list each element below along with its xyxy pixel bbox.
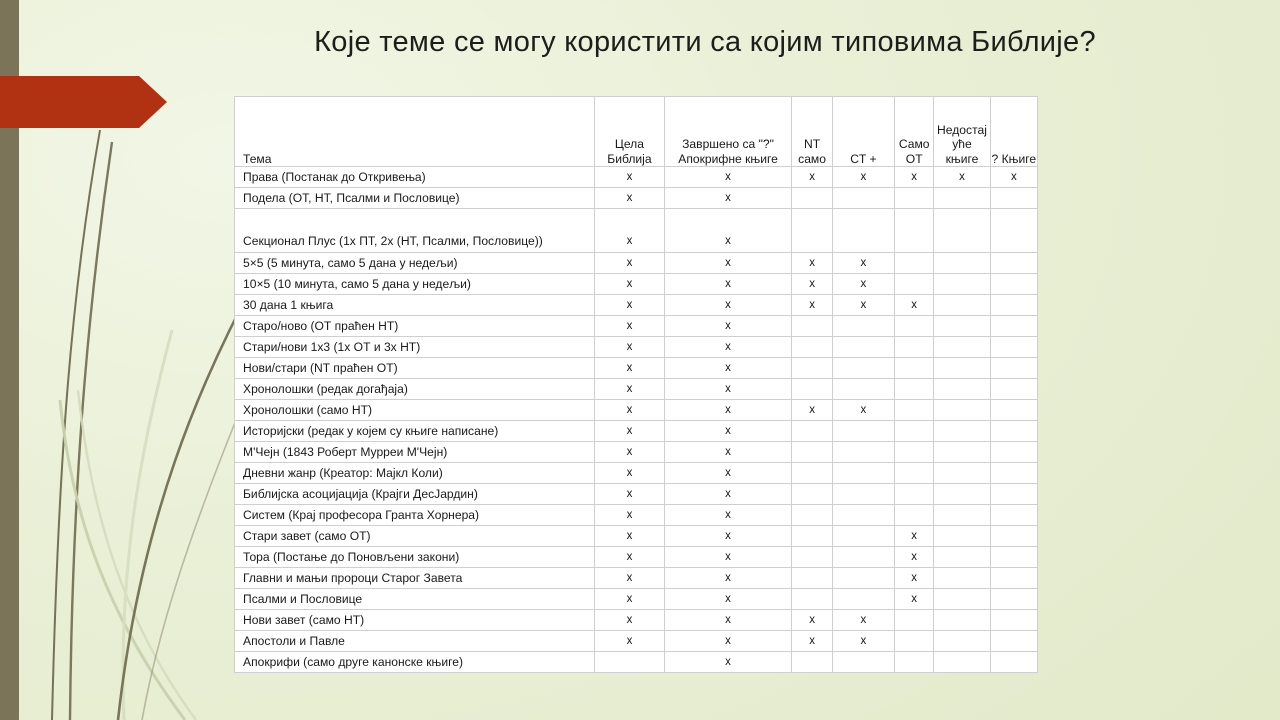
cell-only-ot [895,337,934,358]
cell-theme: 10×5 (10 минута, само 5 дана у недељи) [235,274,595,295]
cell-only-ot [895,505,934,526]
table-row: Историјски (редак у којем су књиге напис… [235,421,1038,442]
cell-only-ot: x [895,568,934,589]
cell-question-books [990,316,1037,337]
cell-ot-plus: x [832,400,894,421]
cell-whole-bible: x [595,610,664,631]
cell-nt-only: x [792,610,832,631]
cell-theme: Историјски (редак у којем су књиге напис… [235,421,595,442]
matrix-table: Тема Цела Библија Завршено са "?" Апокри… [234,96,1038,673]
table-row: Стари завет (само ОТ)xxx [235,526,1038,547]
cell-theme: Стари/нови 1х3 (1х ОТ и 3х НТ) [235,337,595,358]
cell-only-ot: x [895,547,934,568]
cell-whole-bible: x [595,484,664,505]
cell-ot-plus [832,316,894,337]
cell-only-ot [895,610,934,631]
cell-apocrypha: x [664,568,792,589]
cell-nt-only [792,463,832,484]
cell-theme: Права (Постанак до Откривења) [235,167,595,188]
cell-theme: Нови/стари (NT праћен ОТ) [235,358,595,379]
cell-ot-plus [832,547,894,568]
cell-whole-bible: x [595,379,664,400]
cell-only-ot [895,631,934,652]
cell-nt-only: x [792,274,832,295]
cell-missing-books [934,379,990,400]
table-body: Права (Постанак до Откривења)xxxxxxxПоде… [235,167,1038,673]
cell-whole-bible: x [595,253,664,274]
cell-question-books [990,505,1037,526]
cell-apocrypha: x [664,463,792,484]
cell-question-books [990,463,1037,484]
cell-question-books [990,209,1037,253]
table-row: Нови завет (само НТ)xxxx [235,610,1038,631]
table-row: 5×5 (5 минута, само 5 дана у недељи)xxxx [235,253,1038,274]
cell-ot-plus: x [832,167,894,188]
cell-apocrypha: x [664,589,792,610]
cell-nt-only: x [792,295,832,316]
cell-missing-books [934,589,990,610]
column-header-whole-bible: Цела Библија [595,97,664,167]
cell-theme: Старо/ново (ОТ праћен НТ) [235,316,595,337]
page-title: Које теме се могу користити са којим тип… [200,26,1210,59]
cell-apocrypha: x [664,442,792,463]
cell-whole-bible: x [595,526,664,547]
cell-ot-plus [832,188,894,209]
cell-only-ot [895,400,934,421]
cell-only-ot [895,209,934,253]
cell-ot-plus [832,484,894,505]
cell-ot-plus [832,379,894,400]
cell-whole-bible: x [595,295,664,316]
cell-ot-plus: x [832,274,894,295]
cell-missing-books [934,526,990,547]
cell-theme: Систем (Крај професора Гранта Хорнера) [235,505,595,526]
cell-missing-books [934,188,990,209]
cell-only-ot: x [895,295,934,316]
cell-missing-books [934,358,990,379]
cell-missing-books [934,400,990,421]
cell-missing-books [934,421,990,442]
cell-ot-plus [832,358,894,379]
cell-nt-only: x [792,631,832,652]
cell-apocrypha: x [664,295,792,316]
cell-missing-books [934,295,990,316]
table-row: Подела (ОТ, НТ, Псалми и Пословице)xx [235,188,1038,209]
cell-missing-books [934,484,990,505]
cell-nt-only [792,442,832,463]
cell-missing-books [934,209,990,253]
table-row: 10×5 (10 минута, само 5 дана у недељи)xx… [235,274,1038,295]
cell-question-books [990,295,1037,316]
cell-only-ot: x [895,589,934,610]
cell-ot-plus [832,652,894,673]
cell-whole-bible: x [595,631,664,652]
cell-only-ot: x [895,167,934,188]
cell-missing-books [934,610,990,631]
cell-theme: Апокрифи (само друге канонске књиге) [235,652,595,673]
cell-only-ot [895,484,934,505]
cell-nt-only [792,505,832,526]
cell-ot-plus: x [832,631,894,652]
arrow-banner [0,76,167,128]
cell-missing-books [934,463,990,484]
cell-only-ot [895,253,934,274]
cell-apocrypha: x [664,505,792,526]
cell-only-ot [895,358,934,379]
cell-question-books [990,379,1037,400]
cell-nt-only [792,316,832,337]
header-row: Тема Цела Библија Завршено са "?" Апокри… [235,97,1038,167]
cell-only-ot [895,463,934,484]
cell-missing-books [934,652,990,673]
cell-ot-plus [832,589,894,610]
cell-apocrypha: x [664,358,792,379]
table-row: Старо/ново (ОТ праћен НТ)xx [235,316,1038,337]
table-row: Дневни жанр (Креатор: Мајкл Коли)xx [235,463,1038,484]
column-header-nt-only: NT само [792,97,832,167]
cell-theme: Апостоли и Павле [235,631,595,652]
slide-canvas: Које теме се могу користити са којим тип… [0,0,1280,720]
cell-nt-only [792,421,832,442]
cell-theme: Хронолошки (само НТ) [235,400,595,421]
table-row: Главни и мањи пророци Старог Заветаxxx [235,568,1038,589]
cell-whole-bible: x [595,209,664,253]
cell-ot-plus: x [832,295,894,316]
cell-only-ot [895,421,934,442]
cell-theme: Дневни жанр (Креатор: Мајкл Коли) [235,463,595,484]
cell-whole-bible: x [595,442,664,463]
cell-question-books [990,589,1037,610]
cell-nt-only [792,358,832,379]
cell-theme: Библијска асоцијација (Крајги ДесЈардин) [235,484,595,505]
column-header-only-ot: Само ОТ [895,97,934,167]
cell-theme: 5×5 (5 минута, само 5 дана у недељи) [235,253,595,274]
cell-theme: М'Чејн (1843 Роберт Мурреи М'Чејн) [235,442,595,463]
cell-whole-bible: x [595,274,664,295]
cell-nt-only [792,589,832,610]
cell-only-ot [895,652,934,673]
cell-question-books: x [990,167,1037,188]
cell-question-books [990,188,1037,209]
cell-missing-books [934,631,990,652]
cell-whole-bible: x [595,547,664,568]
cell-whole-bible: x [595,188,664,209]
cell-missing-books [934,316,990,337]
cell-apocrypha: x [664,421,792,442]
cell-ot-plus: x [832,610,894,631]
column-header-theme: Тема [235,97,595,167]
cell-nt-only: x [792,400,832,421]
cell-theme: Тора (Постање до Поновљени закони) [235,547,595,568]
cell-apocrypha: x [664,547,792,568]
table-row: Секционал Плус (1х ПТ, 2х (НТ, Псалми, П… [235,209,1038,253]
table-row: Псалми и Пословицеxxx [235,589,1038,610]
cell-nt-only: x [792,167,832,188]
cell-apocrypha: x [664,400,792,421]
cell-question-books [990,652,1037,673]
cell-apocrypha: x [664,526,792,547]
cell-question-books [990,547,1037,568]
cell-whole-bible: x [595,589,664,610]
cell-ot-plus [832,526,894,547]
column-header-ot-plus: CT + [832,97,894,167]
cell-apocrypha: x [664,188,792,209]
cell-nt-only [792,652,832,673]
cell-theme: Нови завет (само НТ) [235,610,595,631]
cell-apocrypha: x [664,379,792,400]
cell-missing-books: x [934,167,990,188]
cell-question-books [990,484,1037,505]
table-row: Апостоли и Павлеxxxx [235,631,1038,652]
cell-apocrypha: x [664,484,792,505]
cell-question-books [990,568,1037,589]
cell-missing-books [934,274,990,295]
column-header-question-books: ? Књиге [990,97,1037,167]
cell-question-books [990,526,1037,547]
cell-whole-bible: x [595,167,664,188]
cell-missing-books [934,337,990,358]
cell-nt-only [792,379,832,400]
table-row: Библијска асоцијација (Крајги ДесЈардин)… [235,484,1038,505]
cell-question-books [990,442,1037,463]
cell-theme: Главни и мањи пророци Старог Завета [235,568,595,589]
cell-only-ot [895,442,934,463]
cell-question-books [990,610,1037,631]
cell-missing-books [934,505,990,526]
table-row: М'Чејн (1843 Роберт Мурреи М'Чејн)xx [235,442,1038,463]
cell-apocrypha: x [664,209,792,253]
cell-whole-bible: x [595,316,664,337]
cell-only-ot [895,274,934,295]
cell-nt-only [792,526,832,547]
cell-nt-only [792,484,832,505]
column-header-apocrypha: Завршено са "?" Апокрифне књиге [664,97,792,167]
cell-ot-plus [832,568,894,589]
cell-theme: Псалми и Пословице [235,589,595,610]
table-row: Стари/нови 1х3 (1х ОТ и 3х НТ)xx [235,337,1038,358]
cell-apocrypha: x [664,652,792,673]
cell-nt-only [792,209,832,253]
cell-theme: Хронолошки (редак догађаја) [235,379,595,400]
cell-ot-plus: x [832,253,894,274]
cell-ot-plus [832,209,894,253]
cell-only-ot: x [895,526,934,547]
cell-question-books [990,358,1037,379]
cell-ot-plus [832,421,894,442]
cell-theme: Секционал Плус (1х ПТ, 2х (НТ, Псалми, П… [235,209,595,253]
cell-question-books [990,253,1037,274]
cell-question-books [990,337,1037,358]
cell-nt-only: x [792,253,832,274]
table-row: Тора (Постање до Поновљени закони)xxx [235,547,1038,568]
cell-apocrypha: x [664,167,792,188]
cell-ot-plus [832,337,894,358]
cell-nt-only [792,547,832,568]
cell-whole-bible: x [595,421,664,442]
cell-theme: Стари завет (само ОТ) [235,526,595,547]
cell-whole-bible: x [595,568,664,589]
cell-whole-bible: x [595,463,664,484]
cell-question-books [990,631,1037,652]
table-row: Апокрифи (само друге канонске књиге)x [235,652,1038,673]
table-header: Тема Цела Библија Завршено са "?" Апокри… [235,97,1038,167]
cell-ot-plus [832,442,894,463]
table-row: Права (Постанак до Откривења)xxxxxxx [235,167,1038,188]
cell-nt-only [792,337,832,358]
cell-missing-books [934,442,990,463]
cell-whole-bible: x [595,505,664,526]
cell-nt-only [792,568,832,589]
cell-apocrypha: x [664,274,792,295]
cell-only-ot [895,379,934,400]
cell-whole-bible: x [595,400,664,421]
cell-ot-plus [832,463,894,484]
cell-whole-bible [595,652,664,673]
cell-question-books [990,274,1037,295]
cell-theme: Подела (ОТ, НТ, Псалми и Пословице) [235,188,595,209]
cell-whole-bible: x [595,337,664,358]
cell-only-ot [895,316,934,337]
table-row: Хронолошки (само НТ)xxxx [235,400,1038,421]
column-header-missing-books: Недостајуће књиге [934,97,990,167]
cell-missing-books [934,547,990,568]
table-row: Хронолошки (редак догађаја)xx [235,379,1038,400]
cell-apocrypha: x [664,253,792,274]
table-row: Нови/стари (NT праћен ОТ)xx [235,358,1038,379]
cell-apocrypha: x [664,610,792,631]
cell-only-ot [895,188,934,209]
cell-apocrypha: x [664,316,792,337]
cell-nt-only [792,188,832,209]
cell-whole-bible: x [595,358,664,379]
cell-question-books [990,400,1037,421]
cell-ot-plus [832,505,894,526]
bible-plan-matrix: Тема Цела Библија Завршено са "?" Апокри… [234,96,1038,673]
table-row: Систем (Крај професора Гранта Хорнера)xx [235,505,1038,526]
cell-missing-books [934,568,990,589]
table-row: 30 дана 1 књигаxxxxx [235,295,1038,316]
cell-theme: 30 дана 1 књига [235,295,595,316]
cell-missing-books [934,253,990,274]
cell-question-books [990,421,1037,442]
cell-apocrypha: x [664,631,792,652]
cell-apocrypha: x [664,337,792,358]
